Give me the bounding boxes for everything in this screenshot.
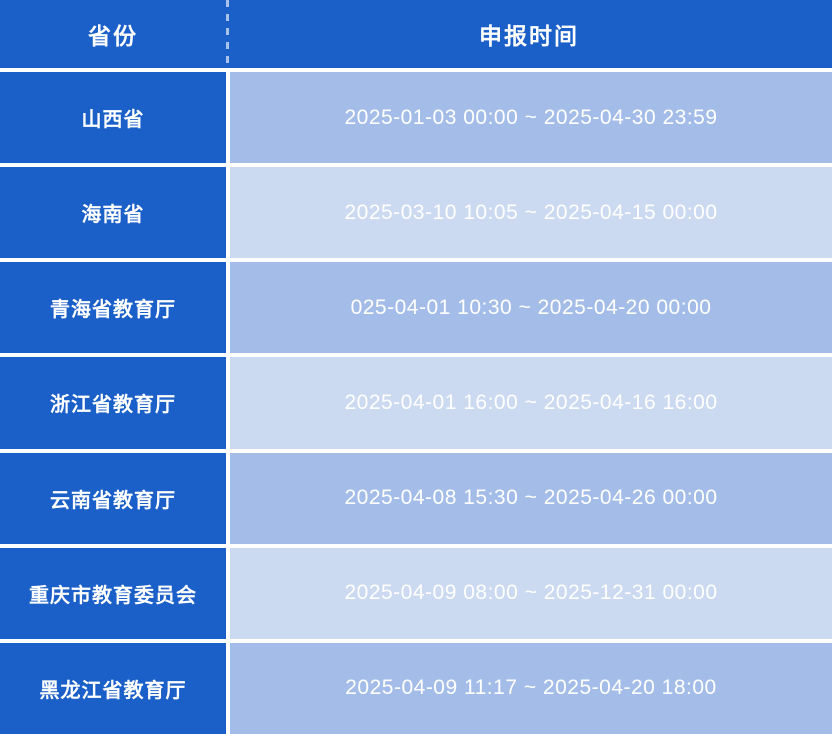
column-header-province: 省份 — [0, 0, 226, 68]
cell-declaration-time: 025-04-01 10:30 ~ 2025-04-20 00:00 — [230, 262, 832, 353]
table-row: 山西省2025-01-03 00:00 ~ 2025-04-30 23:59 — [0, 72, 832, 163]
cell-declaration-time: 2025-04-09 08:00 ~ 2025-12-31 00:00 — [230, 548, 832, 639]
cell-province: 海南省 — [0, 167, 226, 258]
cell-province: 山西省 — [0, 72, 226, 163]
table-row: 重庆市教育委员会2025-04-09 08:00 ~ 2025-12-31 00… — [0, 548, 832, 639]
table-row: 黑龙江省教育厅2025-04-09 11:17 ~ 2025-04-20 18:… — [0, 643, 832, 734]
column-header-declaration-time: 申报时间 — [226, 0, 832, 68]
declaration-schedule-table: 省份 申报时间 山西省2025-01-03 00:00 ~ 2025-04-30… — [0, 0, 832, 734]
header-column-divider — [226, 0, 229, 68]
cell-province: 黑龙江省教育厅 — [0, 643, 226, 734]
table-row: 青海省教育厅025-04-01 10:30 ~ 2025-04-20 00:00 — [0, 262, 832, 353]
table-header-row: 省份 申报时间 — [0, 0, 832, 68]
cell-province: 浙江省教育厅 — [0, 357, 226, 448]
cell-province: 重庆市教育委员会 — [0, 548, 226, 639]
table-row: 浙江省教育厅2025-04-01 16:00 ~ 2025-04-16 16:0… — [0, 357, 832, 448]
cell-province: 云南省教育厅 — [0, 453, 226, 544]
cell-declaration-time: 2025-01-03 00:00 ~ 2025-04-30 23:59 — [230, 72, 832, 163]
cell-declaration-time: 2025-04-01 16:00 ~ 2025-04-16 16:00 — [230, 357, 832, 448]
table-row: 云南省教育厅2025-04-08 15:30 ~ 2025-04-26 00:0… — [0, 453, 832, 544]
cell-declaration-time: 2025-04-09 11:17 ~ 2025-04-20 18:00 — [230, 643, 832, 734]
cell-declaration-time: 2025-03-10 10:05 ~ 2025-04-15 00:00 — [230, 167, 832, 258]
cell-province: 青海省教育厅 — [0, 262, 226, 353]
table-row: 海南省2025-03-10 10:05 ~ 2025-04-15 00:00 — [0, 167, 832, 258]
table-body: 山西省2025-01-03 00:00 ~ 2025-04-30 23:59海南… — [0, 68, 832, 734]
cell-declaration-time: 2025-04-08 15:30 ~ 2025-04-26 00:00 — [230, 453, 832, 544]
